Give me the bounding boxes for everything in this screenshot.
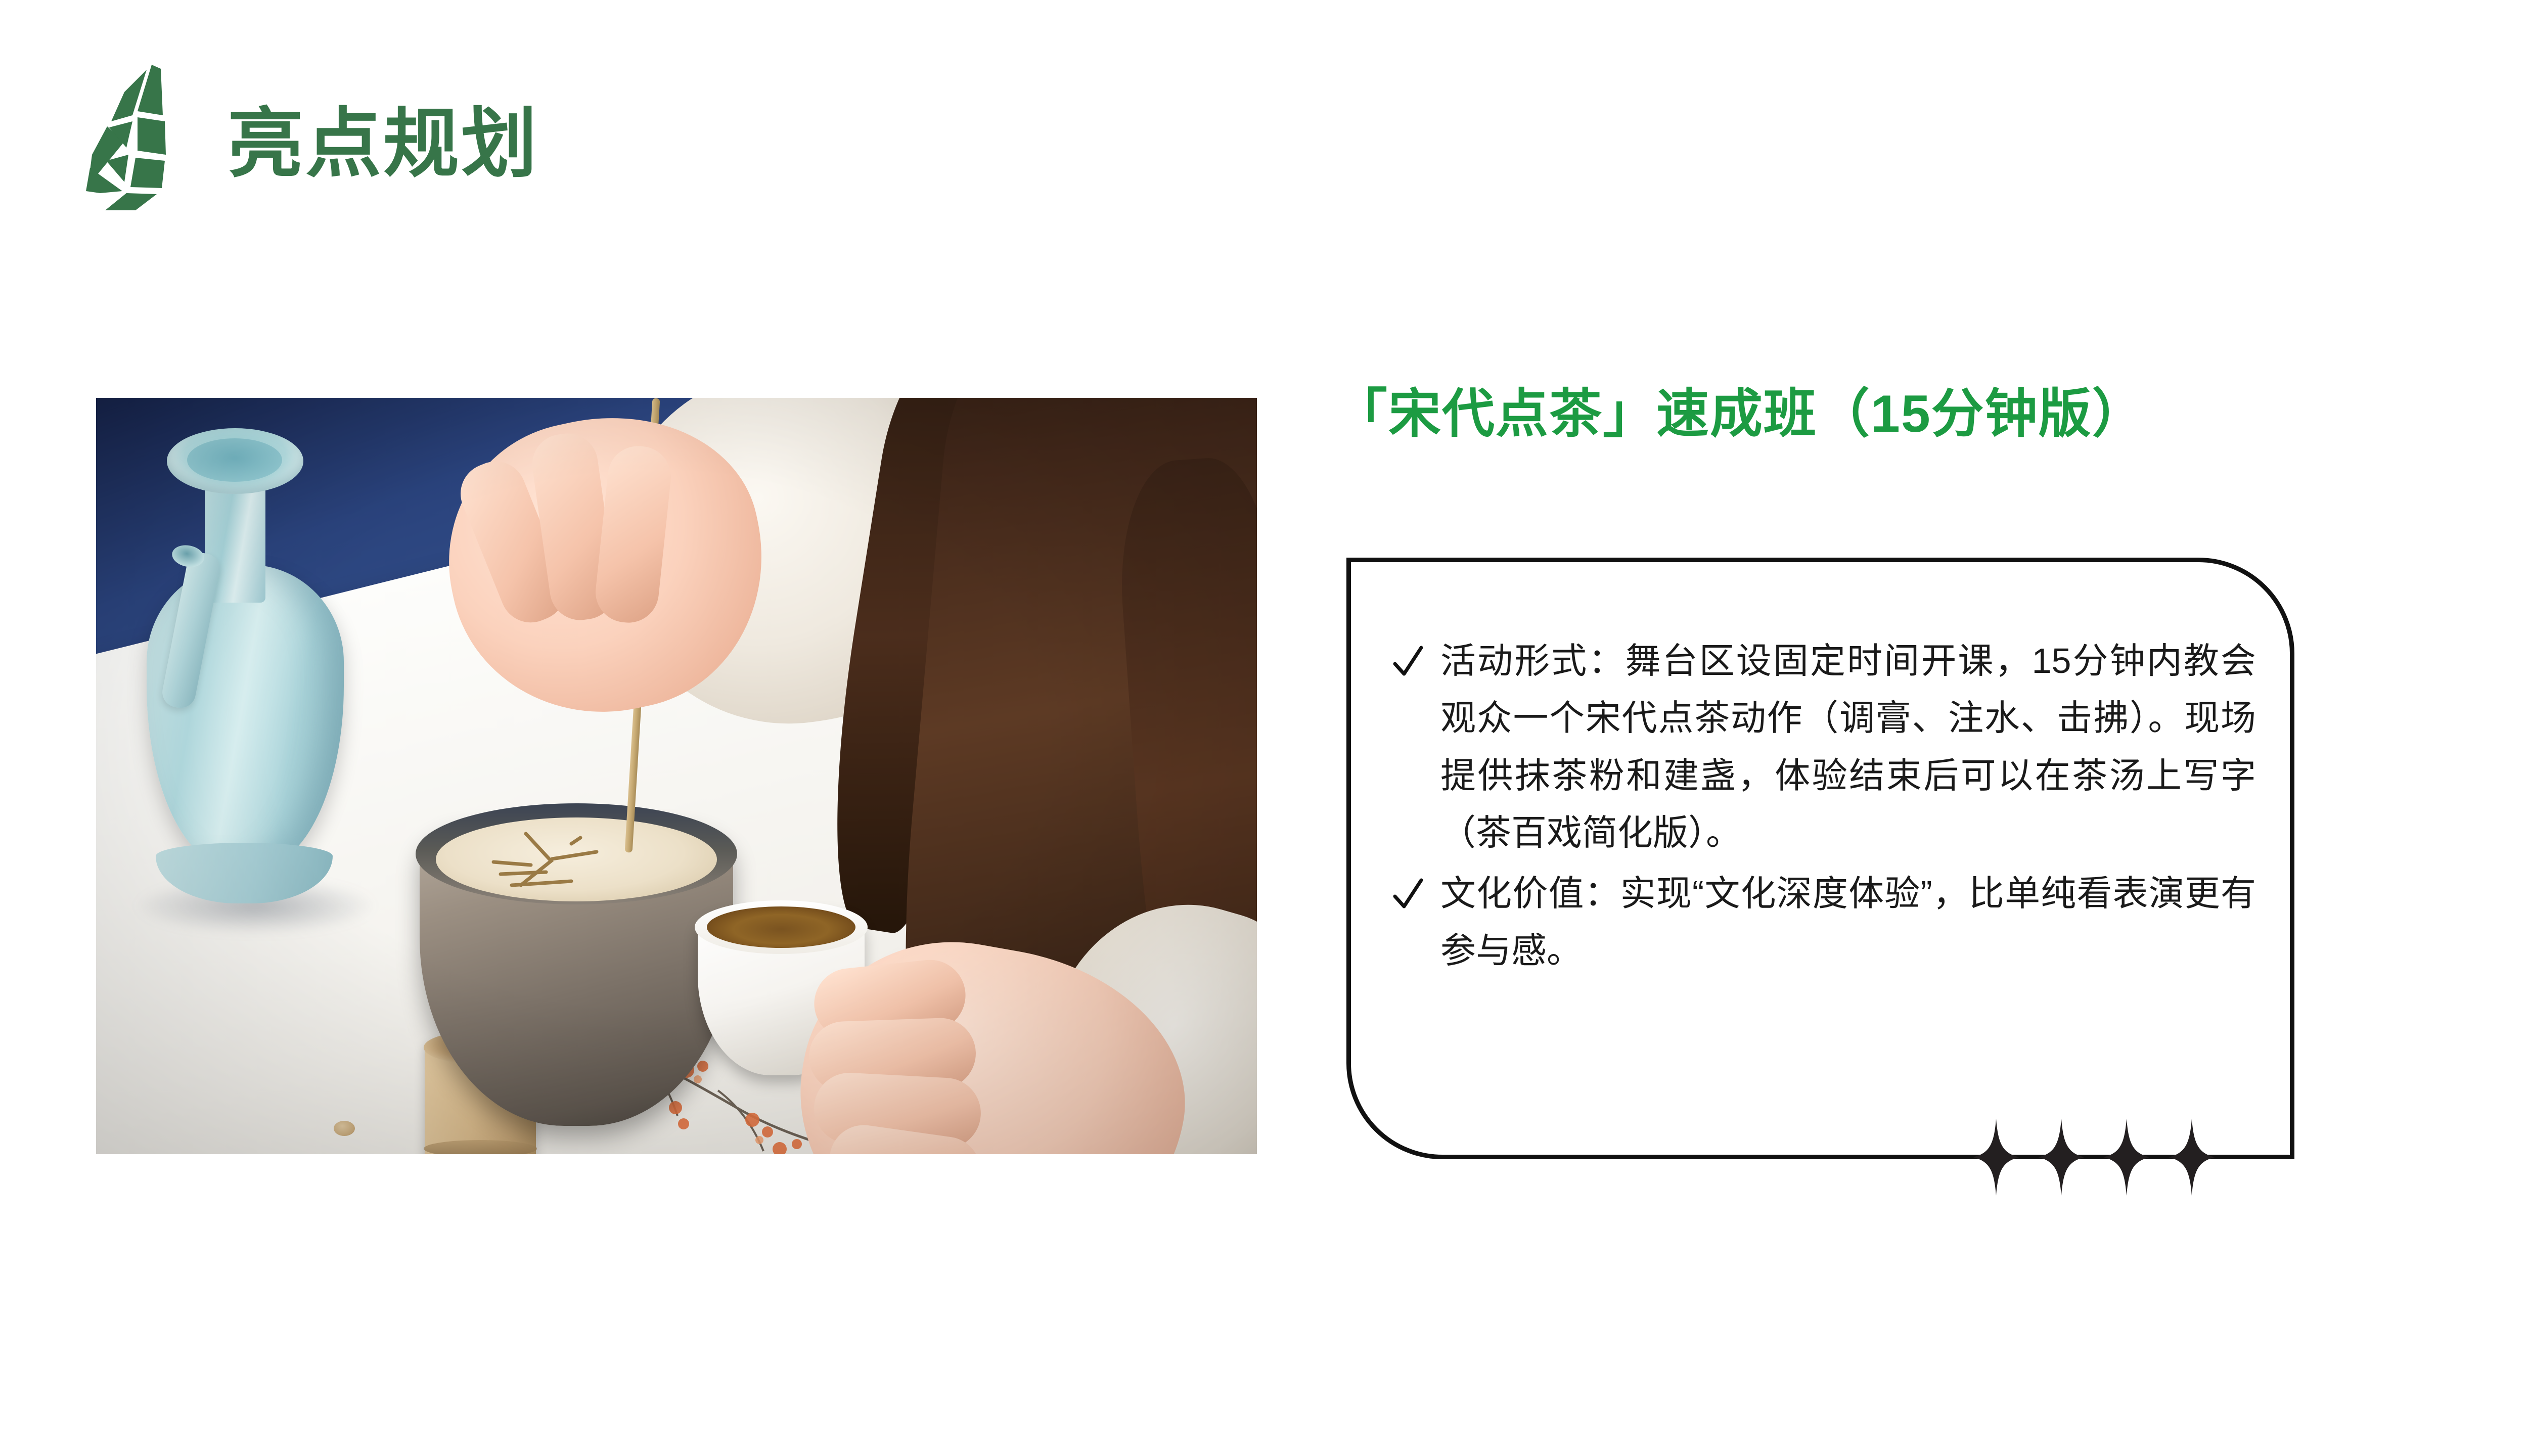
slide-header: 亮点规划 — [76, 61, 784, 212]
slide-root: 亮点规划 — [0, 0, 2528, 1456]
section-heading: 「宋代点茶」速成班（15分钟版） — [1335, 384, 2477, 445]
page-title: 亮点规划 — [228, 106, 539, 181]
photo-vignette — [96, 398, 1257, 1154]
leaf-icon — [76, 61, 192, 212]
list-item-text: 活动形式：舞台区设固定时间开课，15分钟内教会观众一个宋代点茶动作（调膏、注水、… — [1440, 632, 2256, 862]
info-card-body: 活动形式：舞台区设固定时间开课，15分钟内教会观众一个宋代点茶动作（调膏、注水、… — [1393, 632, 2256, 982]
four-point-star-icon — [2036, 1117, 2087, 1198]
four-point-star-icon — [1971, 1117, 2021, 1198]
list-item: 活动形式：舞台区设固定时间开课，15分钟内教会观众一个宋代点茶动作（调膏、注水、… — [1393, 632, 2256, 862]
check-icon — [1393, 874, 1423, 914]
check-icon — [1393, 642, 1423, 681]
info-card: 活动形式：舞台区设固定时间开课，15分钟内教会观众一个宋代点茶动作（调膏、注水、… — [1346, 558, 2294, 1159]
content-column: 「宋代点茶」速成班（15分钟版） — [1335, 384, 2477, 445]
list-item-text: 文化价值：实现“文化深度体验”，比单纯看表演更有参与感。 — [1440, 865, 2256, 980]
list-item: 文化价值：实现“文化深度体验”，比单纯看表演更有参与感。 — [1393, 865, 2256, 980]
four-point-star-icon — [2166, 1117, 2217, 1198]
four-point-star-icon — [2101, 1117, 2152, 1198]
sparkle-decoration-row — [1971, 1117, 2217, 1198]
tea-ceremony-photo — [96, 398, 1257, 1154]
